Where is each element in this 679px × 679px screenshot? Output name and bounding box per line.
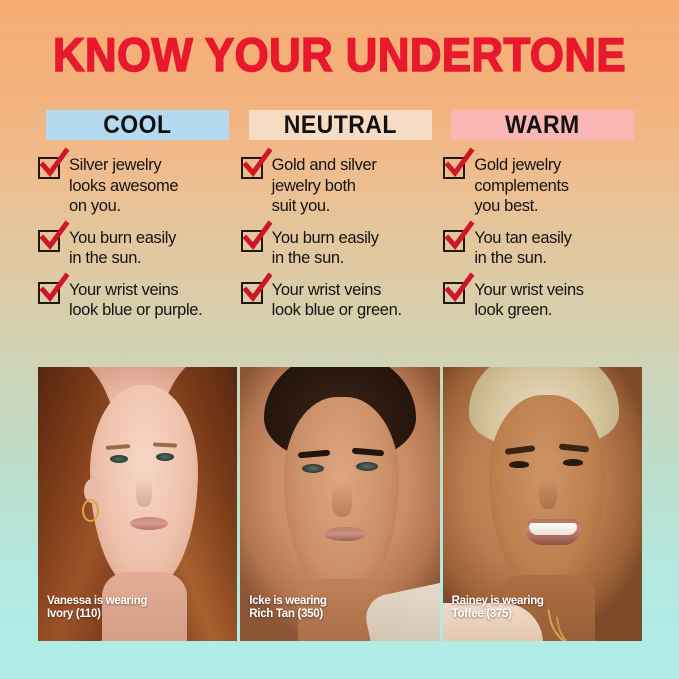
nose	[136, 477, 152, 507]
checkbox-checked-icon[interactable]	[241, 157, 263, 179]
eye-right	[156, 453, 174, 461]
category-header-cool: COOL	[46, 110, 229, 140]
column-cool: COOL Silver jewelry looks awesome on you…	[38, 110, 237, 332]
checklist-item[interactable]: Silver jewelry looks awesome on you.	[38, 155, 237, 217]
category-label-warm: WARM	[505, 111, 580, 140]
category-label-cool: COOL	[103, 111, 171, 140]
checkbox-checked-icon[interactable]	[443, 230, 465, 252]
checklist-item[interactable]: You burn easily in the sun.	[241, 228, 440, 269]
checkbox-checked-icon[interactable]	[38, 230, 60, 252]
page-title: KNOW YOUR UNDERTONE	[24, 30, 655, 80]
checklist-item[interactable]: Gold jewelry complements you best.	[443, 155, 642, 217]
eye-right	[563, 459, 583, 466]
nose	[539, 477, 557, 509]
checklist-item-label: Your wrist veins look blue or purple.	[69, 280, 202, 321]
infographic-canvas: KNOW YOUR UNDERTONE COOL Silver jewelry …	[0, 0, 679, 679]
checkbox-checked-icon[interactable]	[443, 282, 465, 304]
checklist-item-label: You burn easily in the sun.	[272, 228, 379, 269]
checkbox-checked-icon[interactable]	[38, 157, 60, 179]
category-header-neutral: NEUTRAL	[249, 110, 432, 140]
checklist-item-label: Your wrist veins look green.	[474, 280, 583, 321]
model-photo-row: Vanessa is wearing Ivory (110) Icke is w…	[38, 367, 642, 641]
nose	[332, 482, 352, 517]
teeth	[529, 523, 577, 535]
checklist-item[interactable]: Your wrist veins look blue or purple.	[38, 280, 237, 321]
column-neutral: NEUTRAL Gold and silver jewelry both sui…	[241, 110, 440, 332]
checklist-item[interactable]: You burn easily in the sun.	[38, 228, 237, 269]
lips	[130, 517, 168, 530]
photo-caption: Vanessa is wearing Ivory (110)	[47, 595, 147, 621]
checklist-item-label: Silver jewelry looks awesome on you.	[69, 155, 178, 217]
model-photo-rainey: Rainey is wearing Toffee (375)	[443, 367, 642, 641]
checklist-item[interactable]: You tan easily in the sun.	[443, 228, 642, 269]
checkbox-checked-icon[interactable]	[241, 282, 263, 304]
checklist-warm: Gold jewelry complements you best. You t…	[443, 155, 642, 321]
model-photo-vanessa: Vanessa is wearing Ivory (110)	[38, 367, 237, 641]
checklist-neutral: Gold and silver jewelry both suit you. Y…	[241, 155, 440, 321]
checkbox-checked-icon[interactable]	[241, 230, 263, 252]
hoop-earring-icon	[82, 499, 99, 522]
smiling-mouth	[525, 519, 581, 545]
model-photo-icke: Icke is wearing Rich Tan (350)	[240, 367, 439, 641]
eye-left	[110, 455, 128, 463]
checklist-item-label: You tan easily in the sun.	[474, 228, 571, 269]
eye-left	[509, 461, 529, 468]
category-header-warm: WARM	[451, 110, 634, 140]
checklist-item-label: Gold and silver jewelry both suit you.	[272, 155, 377, 217]
checkbox-checked-icon[interactable]	[38, 282, 60, 304]
checklist-item-label: Gold jewelry complements you best.	[474, 155, 568, 217]
checklist-item-label: Your wrist veins look blue or green.	[272, 280, 402, 321]
checklist-item[interactable]: Gold and silver jewelry both suit you.	[241, 155, 440, 217]
category-label-neutral: NEUTRAL	[283, 111, 396, 140]
checklist-item[interactable]: Your wrist veins look green.	[443, 280, 642, 321]
checklist-item[interactable]: Your wrist veins look blue or green.	[241, 280, 440, 321]
checklist-item-label: You burn easily in the sun.	[69, 228, 176, 269]
undertone-columns: COOL Silver jewelry looks awesome on you…	[38, 110, 642, 332]
photo-caption: Rainey is wearing Toffee (375)	[452, 595, 544, 621]
checkbox-checked-icon[interactable]	[443, 157, 465, 179]
column-warm: WARM Gold jewelry complements you best. …	[443, 110, 642, 332]
checklist-cool: Silver jewelry looks awesome on you. You…	[38, 155, 237, 321]
photo-caption: Icke is wearing Rich Tan (350)	[249, 595, 326, 621]
lips	[324, 527, 366, 541]
